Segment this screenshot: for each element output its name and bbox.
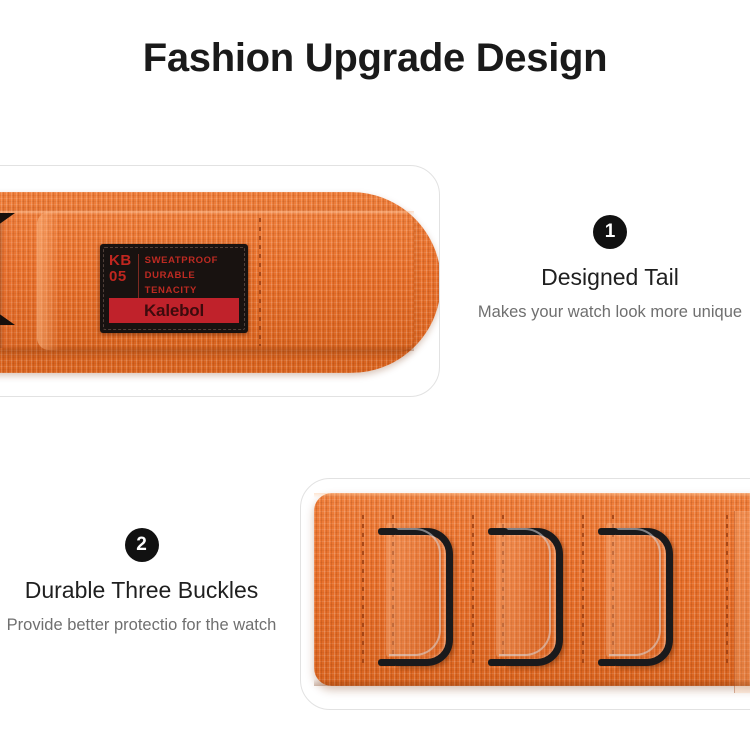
watch-strap-webbing [314, 493, 750, 686]
woven-brand-label: KB 05 SWEATPROOF DURABLE TENACITY Kalebo… [100, 244, 248, 333]
strap-stitch-line [362, 515, 364, 667]
strap-stitch-line [582, 515, 584, 667]
feature-badge-1: 1 [593, 215, 627, 249]
label-code-line-2: 05 [109, 269, 132, 285]
brand-band: Kalebol [109, 298, 239, 323]
feature-callout-2: 2 Durable Three Buckles Provide better p… [0, 528, 283, 637]
label-top-row: KB 05 SWEATPROOF DURABLE TENACITY [109, 253, 240, 300]
strap-fold-edge [37, 212, 59, 350]
buckle-wire-stub [488, 528, 508, 535]
buckle-loop-2 [506, 528, 563, 666]
strap-stitch-line [472, 515, 474, 667]
strap-notch-top [0, 213, 15, 237]
buckle-loop-1 [396, 528, 453, 666]
buckle-wire-stub [598, 659, 618, 666]
buckle-loop-3 [616, 528, 673, 666]
brand-name: Kalebol [144, 302, 204, 320]
product-photo-card-tail: KB 05 SWEATPROOF DURABLE TENACITY Kalebo… [0, 165, 440, 397]
label-claim-durable: DURABLE [145, 268, 218, 283]
product-photo-card-buckles [300, 478, 750, 710]
buckle-wire-stub [488, 659, 508, 666]
label-claim-sweatproof: SWEATPROOF [145, 253, 218, 268]
feature-callout-1: 1 Designed Tail Makes your watch look mo… [470, 215, 750, 324]
label-claims: SWEATPROOF DURABLE TENACITY [145, 253, 218, 298]
strap-stitch-line [726, 515, 728, 667]
feature-title-2: Durable Three Buckles [0, 576, 283, 604]
label-model-code: KB 05 [109, 253, 132, 285]
label-claim-tenacity: TENACITY [145, 283, 218, 298]
feature-description-2: Provide better protectio for the watch [0, 613, 283, 637]
label-divider [138, 254, 139, 300]
feature-description-1: Makes your watch look more unique [470, 300, 750, 324]
label-code-line-1: KB [109, 253, 132, 269]
buckle-wire-stub [378, 659, 398, 666]
strap-overlay-patch [734, 511, 750, 693]
strap-stitch-line [259, 218, 261, 346]
feature-title-1: Designed Tail [470, 263, 750, 291]
feature-badge-2: 2 [125, 528, 159, 562]
strap-notch-bottom [0, 301, 15, 325]
buckle-wire-stub [598, 528, 618, 535]
buckle-wire-stub [378, 528, 398, 535]
page-title: Fashion Upgrade Design [0, 33, 750, 83]
